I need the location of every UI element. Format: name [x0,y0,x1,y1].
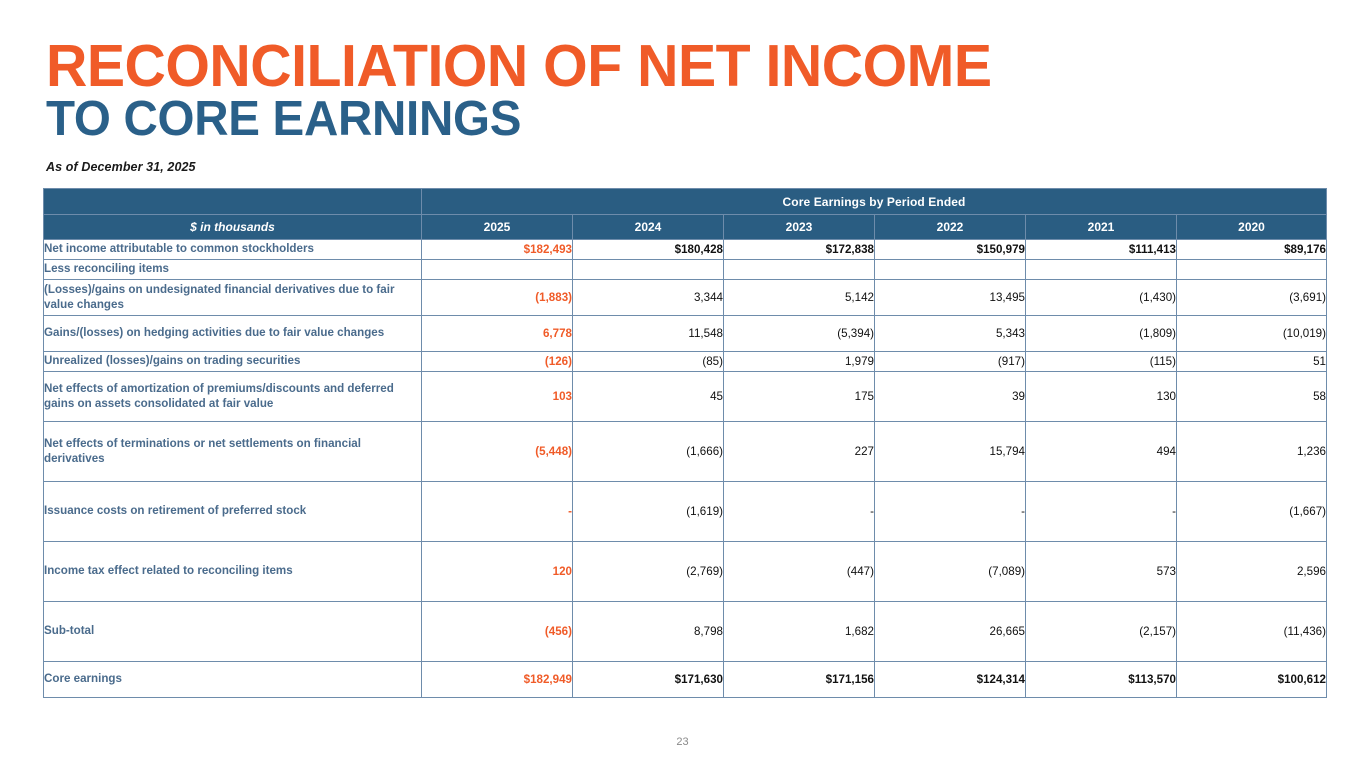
cell-2020: 1,236 [1177,422,1327,482]
cell-2020: $89,176 [1177,240,1327,260]
cell-2022: $124,314 [875,662,1026,698]
cell-2024: 8,798 [573,602,724,662]
cell-2022: $150,979 [875,240,1026,260]
cell-2024: $180,428 [573,240,724,260]
row-label: Net income attributable to common stockh… [44,240,422,260]
table-row: Less reconciling items [44,260,1327,280]
cell-2022: 5,343 [875,316,1026,352]
column-header-2020: 2020 [1177,215,1327,240]
cell-2020: (11,436) [1177,602,1327,662]
cell-2025: $182,949 [422,662,573,698]
cell-2023: 1,979 [724,352,875,372]
table-body: Net income attributable to common stockh… [44,240,1327,698]
row-label: Unrealized (losses)/gains on trading sec… [44,352,422,372]
cell-2021: (1,809) [1026,316,1177,352]
group-header-spacer [44,189,422,215]
cell-2021: $113,570 [1026,662,1177,698]
cell-2022: (7,089) [875,542,1026,602]
row-label: (Losses)/gains on undesignated financial… [44,280,422,316]
column-header-2023: 2023 [724,215,875,240]
table-row: Unrealized (losses)/gains on trading sec… [44,352,1327,372]
cell-2024: 3,344 [573,280,724,316]
row-label: Sub-total [44,602,422,662]
row-label: Net effects of amortization of premiums/… [44,372,422,422]
column-header-2022: 2022 [875,215,1026,240]
cell-2023 [724,260,875,280]
cell-2025: (456) [422,602,573,662]
cell-2020 [1177,260,1327,280]
cell-2025 [422,260,573,280]
cell-2025: 120 [422,542,573,602]
row-label: Income tax effect related to reconciling… [44,542,422,602]
table-row: Core earnings$182,949$171,630$171,156$12… [44,662,1327,698]
cell-2021 [1026,260,1177,280]
cell-2025: (126) [422,352,573,372]
table-row: (Losses)/gains on undesignated financial… [44,280,1327,316]
cell-2022: 39 [875,372,1026,422]
table-column-header-row: $ in thousands 2025 2024 2023 2022 2021 … [44,215,1327,240]
cell-2020: (1,667) [1177,482,1327,542]
cell-2020: (10,019) [1177,316,1327,352]
row-label: Core earnings [44,662,422,698]
title-line-secondary: TO CORE EARNINGS [46,93,1210,146]
cell-2021: $111,413 [1026,240,1177,260]
column-header-2024: 2024 [573,215,724,240]
table-group-header-row: Core Earnings by Period Ended [44,189,1327,215]
table-row: Net income attributable to common stockh… [44,240,1327,260]
cell-2021: 130 [1026,372,1177,422]
cell-2020: 51 [1177,352,1327,372]
cell-2020: (3,691) [1177,280,1327,316]
column-header-2025: 2025 [422,215,573,240]
table-head: Core Earnings by Period Ended $ in thous… [44,189,1327,240]
cell-2021: (2,157) [1026,602,1177,662]
cell-2024: $171,630 [573,662,724,698]
cell-2021: (1,430) [1026,280,1177,316]
cell-2022: (917) [875,352,1026,372]
cell-2023: $171,156 [724,662,875,698]
cell-2020: 58 [1177,372,1327,422]
cell-2021: - [1026,482,1177,542]
slide-subtitle: As of December 31, 2025 [46,160,196,174]
page-number: 23 [0,736,1365,748]
reconciliation-table: Core Earnings by Period Ended $ in thous… [43,188,1327,698]
cell-2025: 6,778 [422,316,573,352]
cell-2023: (447) [724,542,875,602]
row-label: Gains/(losses) on hedging activities due… [44,316,422,352]
cell-2020: $100,612 [1177,662,1327,698]
cell-2025: $182,493 [422,240,573,260]
table-row: Issuance costs on retirement of preferre… [44,482,1327,542]
cell-2023: 1,682 [724,602,875,662]
slide-title-block: RECONCILIATION OF NET INCOME TO CORE EAR… [46,38,1246,146]
cell-2025: - [422,482,573,542]
table-row: Net effects of terminations or net settl… [44,422,1327,482]
cell-2023: (5,394) [724,316,875,352]
cell-2023: 175 [724,372,875,422]
cell-2022: - [875,482,1026,542]
cell-2022: 13,495 [875,280,1026,316]
cell-2020: 2,596 [1177,542,1327,602]
table-row: Net effects of amortization of premiums/… [44,372,1327,422]
cell-2022: 15,794 [875,422,1026,482]
cell-2023: 227 [724,422,875,482]
row-label: Issuance costs on retirement of preferre… [44,482,422,542]
cell-2024: 45 [573,372,724,422]
cell-2021: (115) [1026,352,1177,372]
cell-2025: (5,448) [422,422,573,482]
cell-2024: (1,666) [573,422,724,482]
cell-2023: 5,142 [724,280,875,316]
cell-2025: (1,883) [422,280,573,316]
table-row: Gains/(losses) on hedging activities due… [44,316,1327,352]
cell-2021: 494 [1026,422,1177,482]
cell-2025: 103 [422,372,573,422]
title-line-primary: RECONCILIATION OF NET INCOME [46,38,1210,95]
group-header-label: Core Earnings by Period Ended [422,189,1327,215]
table-row: Sub-total(456)8,7981,68226,665(2,157)(11… [44,602,1327,662]
row-label: Net effects of terminations or net settl… [44,422,422,482]
cell-2023: $172,838 [724,240,875,260]
cell-2024: (85) [573,352,724,372]
row-label: Less reconciling items [44,260,422,280]
cell-2023: - [724,482,875,542]
table-row: Income tax effect related to reconciling… [44,542,1327,602]
cell-2022: 26,665 [875,602,1026,662]
cell-2024 [573,260,724,280]
cell-2021: 573 [1026,542,1177,602]
cell-2024: (2,769) [573,542,724,602]
cell-2022 [875,260,1026,280]
units-header: $ in thousands [44,215,422,240]
cell-2024: 11,548 [573,316,724,352]
column-header-2021: 2021 [1026,215,1177,240]
cell-2024: (1,619) [573,482,724,542]
